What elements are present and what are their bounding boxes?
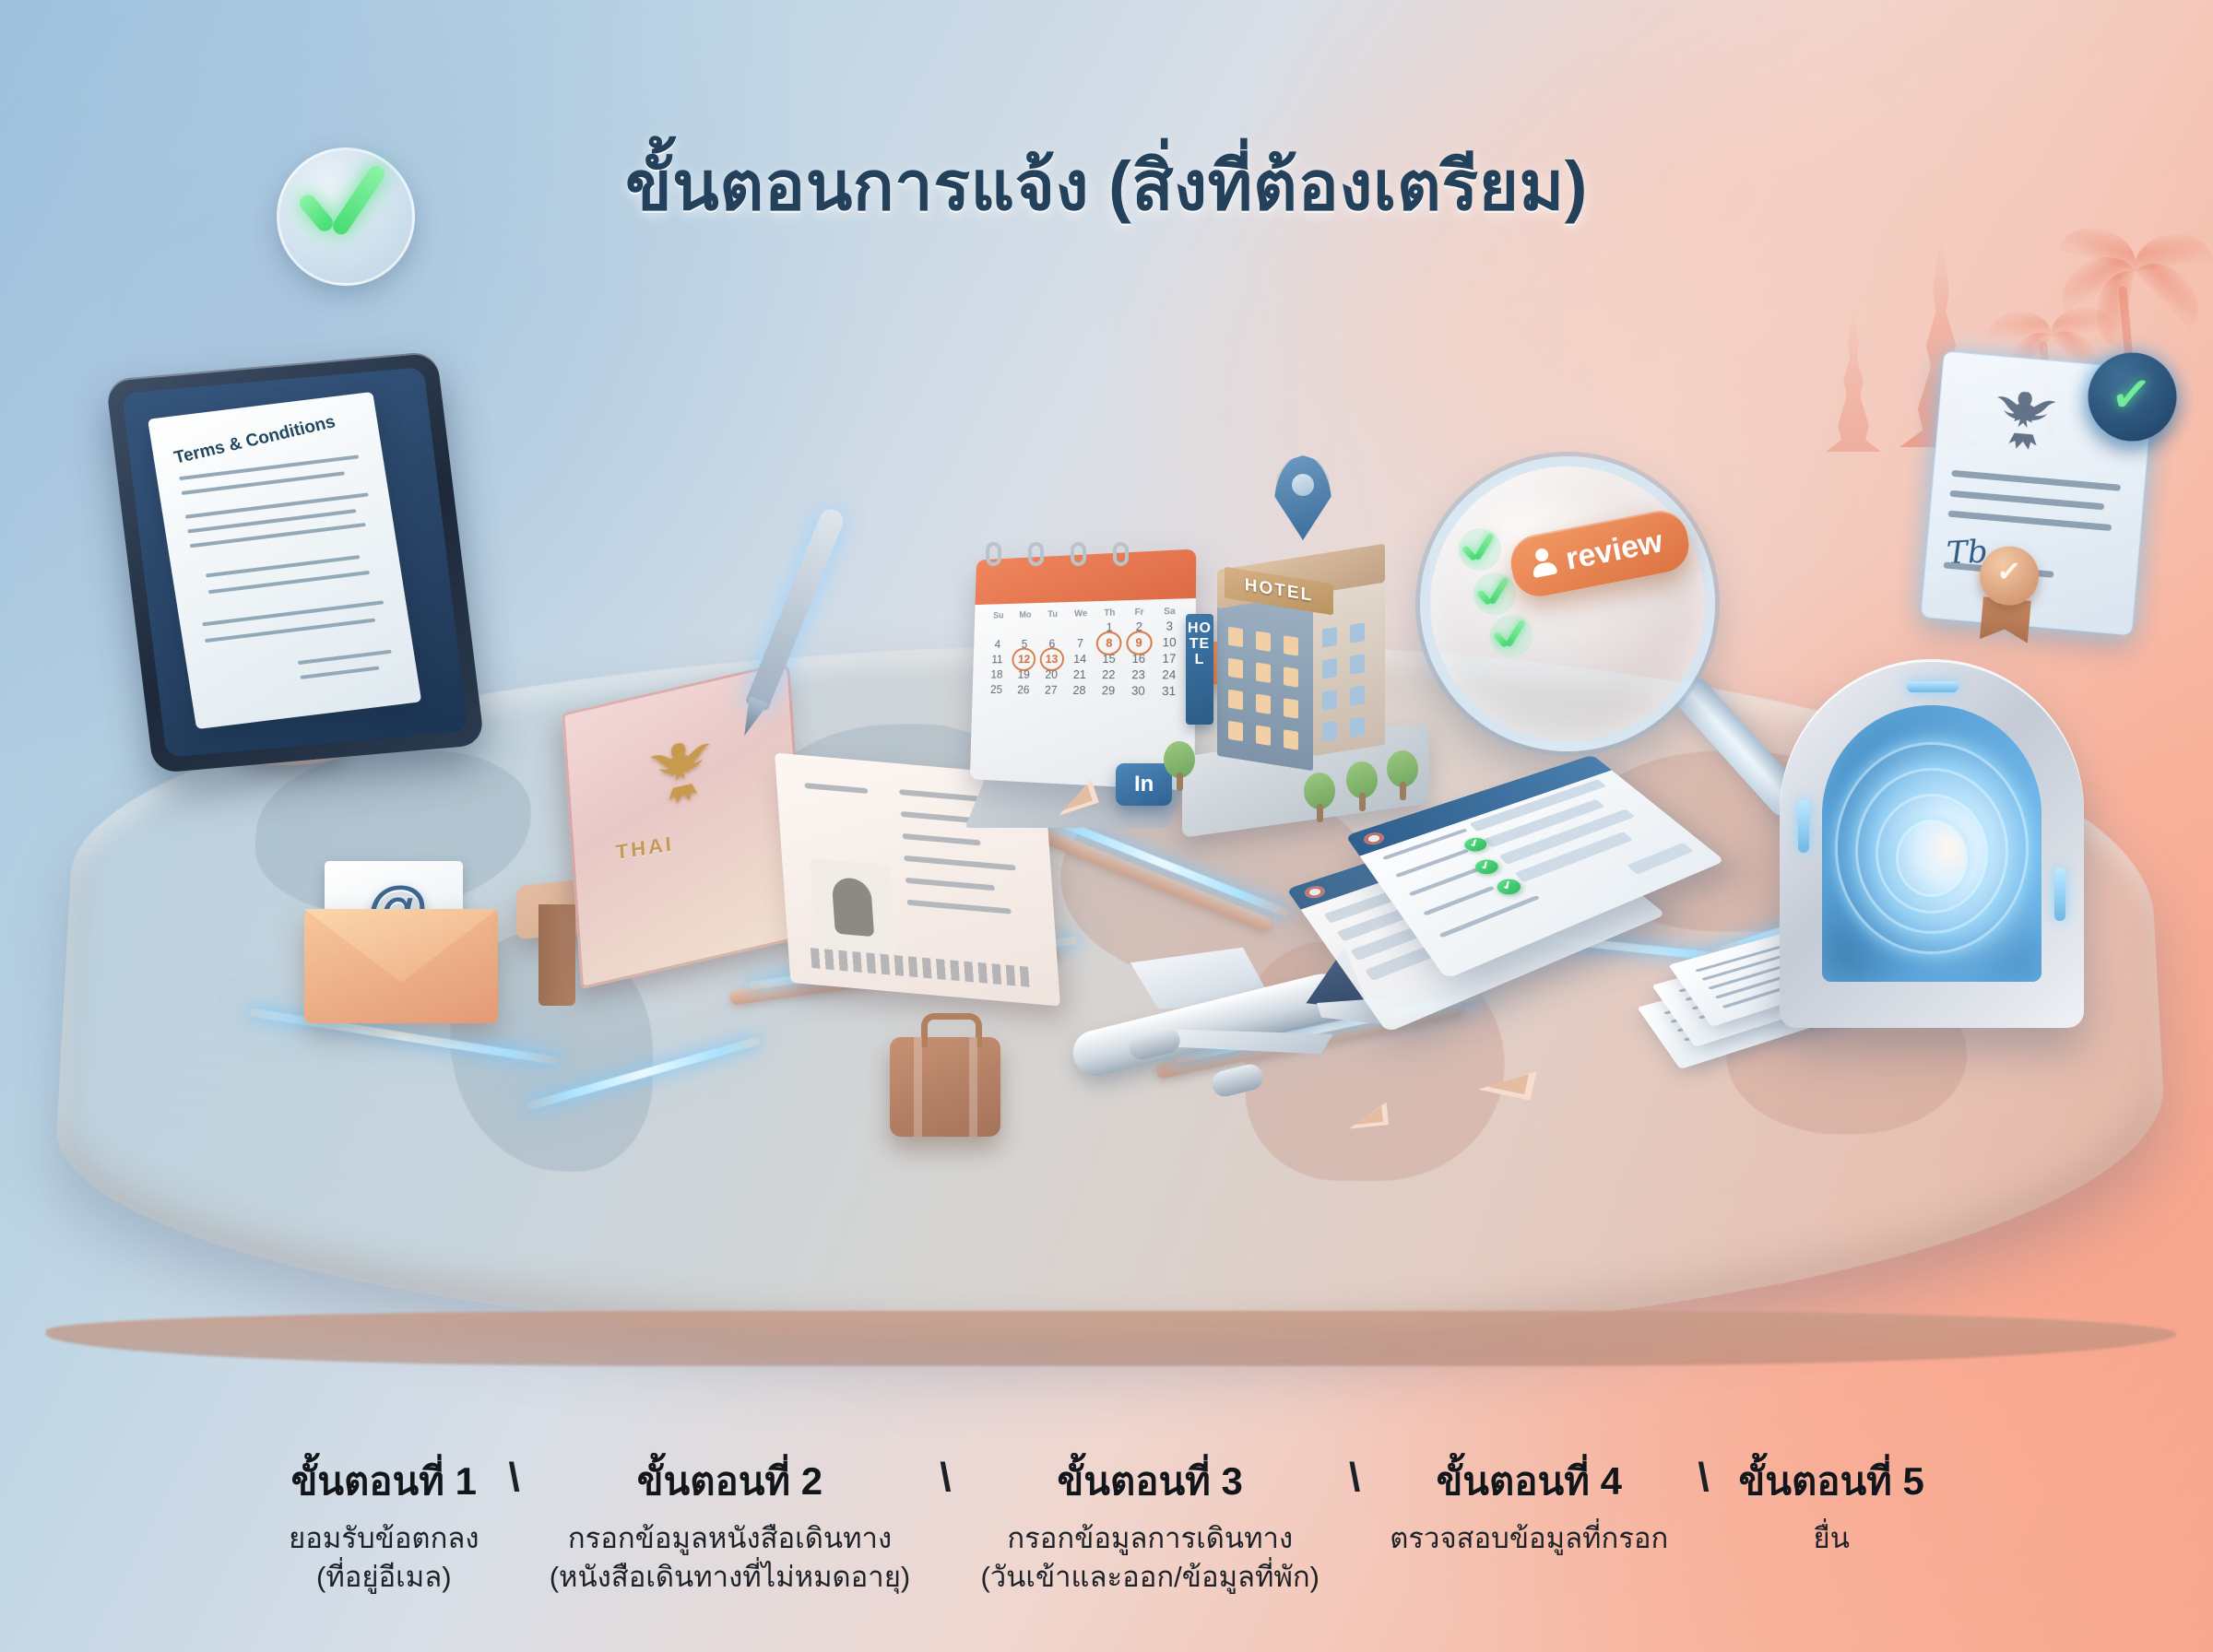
step-description: กรอกข้อมูลหนังสือเดินทาง xyxy=(550,1519,911,1558)
calendar-day[interactable]: 25 xyxy=(984,682,1009,696)
calendar-ring xyxy=(1113,542,1129,566)
doc-text-line xyxy=(300,666,379,678)
scanner-vortex xyxy=(1822,705,2041,982)
map-pin-hole xyxy=(1292,474,1314,496)
garuda-emblem-icon xyxy=(640,727,724,824)
calendar-day[interactable]: 22 xyxy=(1095,667,1122,681)
doc-text-line xyxy=(298,650,392,665)
step-number-label: ขั้นตอนที่ 4 xyxy=(1390,1451,1668,1512)
calendar-weekday: We xyxy=(1068,608,1095,619)
document-scanner-portal[interactable] xyxy=(1780,659,2084,1028)
scanner-indicator-slot xyxy=(1798,799,1809,853)
step-description: ยื่น xyxy=(1739,1519,1924,1558)
passport-field-line xyxy=(904,855,1015,871)
step-separator: \ xyxy=(916,1455,975,1501)
calendar-weekday: Sa xyxy=(1155,607,1184,618)
step-separator: \ xyxy=(1325,1455,1384,1501)
hotel-window xyxy=(1256,631,1271,652)
passport-field-line xyxy=(899,789,985,802)
hotel-window xyxy=(1284,635,1298,656)
calendar-weekday: Su xyxy=(986,611,1011,621)
calendar-weekday: Tu xyxy=(1039,609,1065,619)
garuda-emblem-icon xyxy=(1982,383,2066,466)
hotel-window xyxy=(1350,685,1365,706)
email-envelope[interactable]: @ xyxy=(304,885,498,1023)
green-check-icon xyxy=(1490,615,1533,657)
hotel-window xyxy=(1284,698,1298,719)
calendar-day-empty xyxy=(1039,621,1066,635)
green-check-icon xyxy=(302,177,391,230)
step-description: ตรวจสอบข้อมูลที่กรอก xyxy=(1390,1519,1668,1558)
calendar-day[interactable]: 9 xyxy=(1125,635,1154,650)
step-5[interactable]: ขั้นตอนที่ 5ยื่น xyxy=(1734,1451,1930,1558)
calendar-day[interactable]: 17 xyxy=(1154,651,1184,666)
passport-mrz-strip xyxy=(811,948,1035,987)
steps-legend: ขั้นตอนที่ 1ยอมรับข้อตกลง(ที่อยู่อีเมล)\… xyxy=(0,1451,2213,1597)
calendar-day-empty xyxy=(1067,620,1094,634)
form-text-line xyxy=(1423,886,1495,916)
calendar-day[interactable]: 8 xyxy=(1095,636,1123,650)
calendar-day[interactable]: 3 xyxy=(1155,619,1185,633)
green-check-icon xyxy=(1473,572,1516,615)
calendar-day[interactable]: 12 xyxy=(1012,652,1037,666)
step-number-label: ขั้นตอนที่ 3 xyxy=(980,1451,1320,1512)
calendar-grid: SuMoTuWeThFrSa12345678910111213141516171… xyxy=(984,607,1184,699)
tree-icon xyxy=(1304,773,1335,822)
accept-green-check-icon xyxy=(277,147,415,286)
calendar-day[interactable]: 27 xyxy=(1037,683,1064,697)
step-description: ยอมรับข้อตกลง xyxy=(289,1519,479,1558)
thai-passport[interactable]: THAI xyxy=(553,687,1033,1019)
step-detail: (หนังสือเดินทางที่ไม่หมดอายุ) xyxy=(550,1558,911,1597)
step-detail: (วันเข้าและออก/ข้อมูลที่พัก) xyxy=(980,1558,1320,1597)
hotel-window xyxy=(1256,693,1271,714)
scanner-indicator-slot xyxy=(1907,681,1959,692)
map-pin-head xyxy=(1274,455,1331,540)
suitcase-band xyxy=(969,1037,977,1137)
passport-photo-placeholder xyxy=(810,858,895,953)
terms-monitor[interactable]: Terms & Conditions xyxy=(105,351,484,773)
hotel-sign-vertical: HOTEL xyxy=(1186,614,1213,725)
passport-field-line xyxy=(906,900,1011,914)
step-separator: \ xyxy=(484,1455,543,1501)
airplane-engine xyxy=(1209,1062,1265,1100)
doc-text-line xyxy=(185,492,369,518)
calendar-day[interactable]: 4 xyxy=(985,637,1010,651)
calendar-ring xyxy=(986,542,1001,566)
calendar-day[interactable]: 10 xyxy=(1154,635,1184,650)
hotel-window xyxy=(1322,690,1337,711)
calendar-day[interactable]: 29 xyxy=(1095,683,1122,698)
calendar-day[interactable]: 26 xyxy=(1011,683,1036,697)
step-2[interactable]: ขั้นตอนที่ 2กรอกข้อมูลหนังสือเดินทาง(หนั… xyxy=(544,1451,917,1597)
step-number-label: ขั้นตอนที่ 2 xyxy=(550,1451,911,1512)
suitcase-icon xyxy=(890,1037,1000,1137)
hotel-window xyxy=(1322,658,1337,679)
calendar-day[interactable]: 11 xyxy=(985,653,1010,667)
step-4[interactable]: ขั้นตอนที่ 4ตรวจสอบข้อมูลที่กรอก xyxy=(1384,1451,1674,1558)
hotel-window xyxy=(1284,667,1298,688)
hotel-window xyxy=(1256,725,1271,746)
step-3[interactable]: ขั้นตอนที่ 3กรอกข้อมูลการเดินทาง(วันเข้า… xyxy=(975,1451,1325,1597)
hotel-window xyxy=(1228,658,1243,679)
step-number-label: ขั้นตอนที่ 1 xyxy=(289,1451,479,1512)
form-submit-box[interactable] xyxy=(1627,843,1694,875)
calendar-weekday: Mo xyxy=(1012,610,1038,620)
scanner-vortex-ring xyxy=(1896,820,1968,897)
review-badge-label: review xyxy=(1563,524,1665,577)
step-description: กรอกข้อมูลการเดินทาง xyxy=(980,1519,1320,1558)
calendar-day[interactable]: 7 xyxy=(1067,636,1094,650)
temple-silhouette-secondary-icon xyxy=(1826,304,1881,452)
calendar-day-empty xyxy=(986,622,1011,636)
calendar-ring xyxy=(1071,542,1086,566)
step-number-label: ขั้นตอนที่ 5 xyxy=(1739,1451,1924,1512)
calendar-day[interactable]: 21 xyxy=(1066,667,1093,681)
calendar-day[interactable]: 14 xyxy=(1067,652,1094,666)
hotel-window xyxy=(1322,627,1337,648)
calendar-weekday: Fr xyxy=(1125,607,1154,618)
tree-icon xyxy=(1164,741,1195,791)
calendar-ring xyxy=(1028,542,1044,566)
calendar-day[interactable]: 18 xyxy=(984,667,1009,681)
travel-calendar[interactable]: SuMoTuWeThFrSa12345678910111213141516171… xyxy=(964,553,1194,784)
platform-rim xyxy=(44,1311,2179,1366)
form-check-icon xyxy=(1472,857,1503,877)
calendar-day[interactable]: 30 xyxy=(1124,683,1153,698)
approved-certificate[interactable]: Tb xyxy=(1921,351,2155,636)
person-icon xyxy=(1529,547,1557,578)
hotel-window xyxy=(1350,654,1365,675)
passport-brand-label: THAI xyxy=(615,832,675,865)
calendar-body: SuMoTuWeThFrSa12345678910111213141516171… xyxy=(970,549,1196,790)
passport-cover: THAI xyxy=(562,661,809,989)
step-separator: \ xyxy=(1674,1455,1733,1501)
calendar-day[interactable]: 23 xyxy=(1124,667,1153,681)
calendar-day[interactable]: 31 xyxy=(1154,684,1184,699)
calendar-weekday: Th xyxy=(1096,608,1124,619)
passport-field-line xyxy=(804,783,868,794)
calendar-day-empty xyxy=(1012,621,1038,635)
hotel-window xyxy=(1228,690,1243,711)
step-detail: (ที่อยู่อีเมล) xyxy=(289,1558,479,1597)
calendar-day[interactable]: 24 xyxy=(1154,667,1184,682)
hotel-window xyxy=(1228,721,1243,742)
calendar-day[interactable]: 13 xyxy=(1038,652,1065,666)
hotel-window xyxy=(1256,662,1271,683)
scanner-indicator-slot xyxy=(2054,867,2065,921)
calendar-day[interactable]: 28 xyxy=(1066,683,1093,697)
hotel-window xyxy=(1284,729,1298,750)
passport-field-line xyxy=(905,878,995,891)
map-pin-icon xyxy=(1274,455,1331,540)
passport-field-line xyxy=(902,833,980,845)
hotel-window xyxy=(1350,622,1365,643)
hotel-window xyxy=(1228,627,1243,648)
hotel-window xyxy=(1322,721,1337,742)
green-check-icon xyxy=(1459,528,1501,571)
terms-document-sheet: Terms & Conditions xyxy=(148,392,421,729)
step-1[interactable]: ขั้นตอนที่ 1ยอมรับข้อตกลง(ที่อยู่อีเมล) xyxy=(283,1451,484,1597)
magnifier-lens xyxy=(1420,456,1715,751)
suitcase-band xyxy=(914,1037,922,1137)
